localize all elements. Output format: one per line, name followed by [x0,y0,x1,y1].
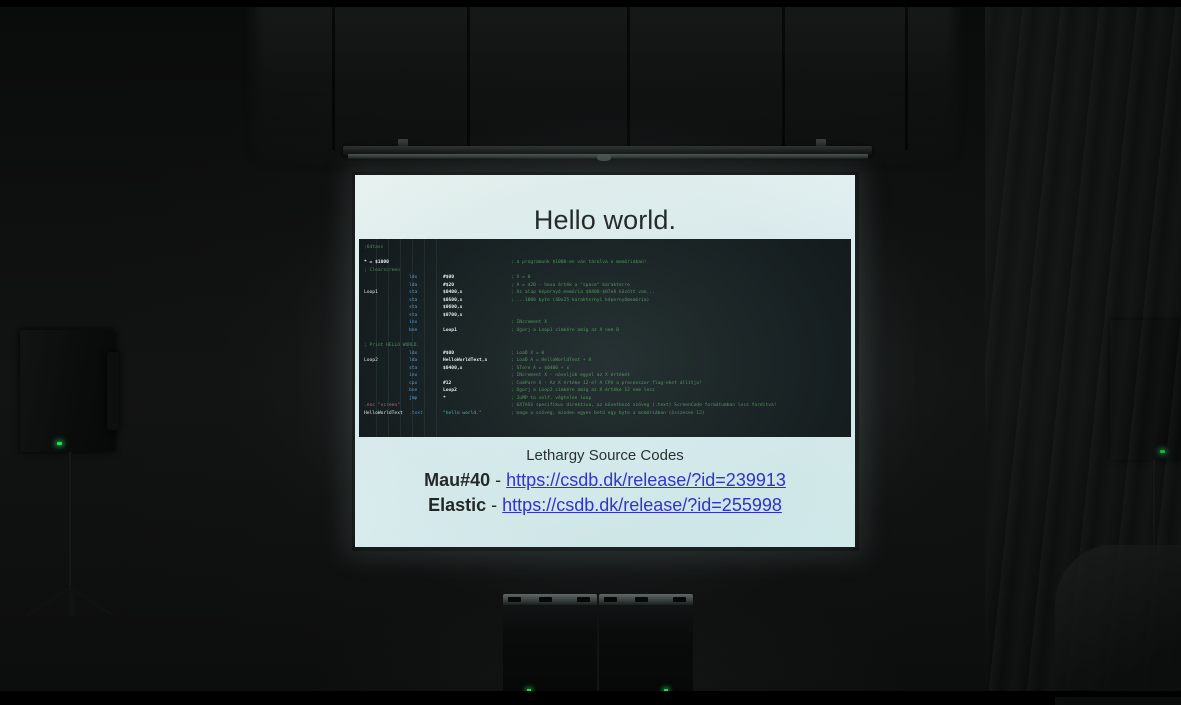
code-mnemonic: .text [409,410,423,418]
code-line: inx; INcrement X - növeljük egyel az X é… [359,372,851,380]
slide-footer: Lethargy Source Codes Mau#40 - https://c… [355,447,855,520]
source-link-list: Mau#40 - https://csdb.dk/release/?id=239… [355,470,855,516]
code-line: cpx#12; ComPare X - Az X értéke 12-e? A … [359,380,851,388]
release-url-link[interactable]: https://csdb.dk/release/?id=239913 [506,470,786,490]
code-block: ;64tass* = $1000; a programunk $1000-en … [359,239,851,437]
ceiling-seam [467,0,470,150]
code-line: ;64tass [359,244,851,252]
ceiling-seam [627,0,630,150]
code-line: sta$0400,x; STore A = $0400 + x [359,365,851,373]
projection-screen: Hello world. ;64tass* = $1000; a program… [352,172,859,551]
release-name: Elastic [428,495,486,515]
code-operand: #$00 [443,350,454,358]
speaker-cabinet [20,330,115,452]
code-comment: ; ComPare X - Az X értéke 12-e? A CPX a … [511,380,702,388]
code-line: sta$0600,x [359,304,851,312]
code-line: .enc "screen"; 64TASS specifikus direktí… [359,402,851,410]
handle-recess [539,597,552,602]
code-operand: #$00 [443,274,454,282]
ceiling-glow [255,0,955,168]
code-label: HelloWorldText [364,410,403,418]
code-mnemonic: ldx [409,350,417,358]
code-line: * = $1000; a programunk $1000-en van tár… [359,259,851,267]
code-line: Loop2ldaHelloWorldText,x; LoaD A = Hello… [359,357,851,365]
code-mnemonic: lda [409,282,417,290]
code-operand: #$20 [443,282,454,290]
stand-leg [69,586,114,617]
handle-recess [673,597,686,602]
code-mnemonic: sta [409,297,417,305]
ceiling-seam [332,0,335,150]
code-label: Loop1 [364,289,378,297]
code-comment: ; maga a szöveg, minden egyes betű egy b… [511,410,705,418]
code-mnemonic: bne [409,387,417,395]
code-line: ldx#$00; X = 0 [359,274,851,282]
code-comment: ; LoaD A = HelloWorldText + X [511,357,591,365]
handle-recess [577,597,590,602]
speaker-side-panel [107,352,119,430]
code-operand: $0500,x [443,297,462,305]
letterbox-bottom [0,691,1181,697]
code-operand: HelloWorldText,x [443,357,487,365]
code-label: ;64tass [364,244,383,252]
code-operand: "hello world." [443,410,482,418]
code-mnemonic: lda [409,357,417,365]
code-label: ; Print HELLO WORLD. [364,342,419,350]
subwoofer-left [503,594,597,697]
code-line [359,335,851,343]
stand-leg [69,586,75,616]
code-line: ; Print HELLO WORLD. [359,342,851,350]
code-mnemonic: inx [409,319,417,327]
code-comment: ; a programunk $1000-en van tárolva a me… [511,259,647,267]
subwoofer-pair [503,594,693,697]
page-title: Hello world. [355,205,855,236]
code-label: ; Clearscreen [364,267,400,275]
handle-recess [635,597,648,602]
code-mnemonic: ldx [409,274,417,282]
screen-roller-knob [597,154,611,161]
code-line: jmp*; JuMP to self, végtelen loop [359,395,851,403]
source-codes-heading: Lethargy Source Codes [355,447,855,464]
code-operand: * [443,395,446,403]
code-mnemonic: inx [409,372,417,380]
code-comment: ; Ugorj a Loop1 címkére amíg az X nem 0 [511,327,619,335]
code-operand: $0400,x [443,365,462,373]
code-comment: ; Az alap képernyő memória $0400-$07e8 k… [511,289,655,297]
speaker-stand-pole [68,452,72,587]
code-operand: $0700,x [443,312,462,320]
code-line: Loop1sta$0400,x; Az alap képernyő memóri… [359,289,851,297]
code-mnemonic: sta [409,365,417,373]
code-mnemonic: jmp [409,395,417,403]
stand-leg [26,586,71,617]
code-operand: $0400,x [443,289,462,297]
code-label: Loop2 [364,357,378,365]
letterbox-top [0,0,1181,7]
code-line: bneLoop2; Ugorj a Loop2 címkére amíg az … [359,387,851,395]
code-operand: $0600,x [443,304,462,312]
code-mnemonic: sta [409,304,417,312]
separator: - [486,495,502,515]
curtain-fold [1055,545,1181,705]
separator: - [490,470,506,490]
code-label: .enc "screen" [364,402,400,410]
code-line: HelloWorldText.text"hello world."; maga … [359,410,851,418]
code-comment: ; A = $20 - hexa érték a "space" karakte… [511,282,630,290]
code-comment: ; LoaD X = 0 [511,350,544,358]
ceiling-seam [782,0,785,150]
code-line: sta$0500,x; ...1000 byte (40x25 karakter… [359,297,851,305]
code-mnemonic: sta [409,289,417,297]
code-line [359,252,851,260]
code-comment: ; 64TASS specifikus direktíva, az követk… [511,402,777,410]
code-operand: #12 [443,380,451,388]
code-comment: ; ...1000 byte (40x25 karakternyi képern… [511,297,649,305]
code-line: bneLoop1; Ugorj a Loop1 címkére amíg az … [359,327,851,335]
handle-recess [604,597,617,602]
code-operand: Loop2 [443,387,457,395]
code-comment: ; X = 0 [511,274,530,282]
ceiling-seam [905,0,908,150]
code-comment: ; JuMP to self, végtelen loop [511,395,591,403]
code-comment: ; INcrement X [511,319,547,327]
source-link-row: Elastic - https://csdb.dk/release/?id=25… [355,495,855,516]
code-mnemonic: sta [409,312,417,320]
code-mnemonic: cpx [409,380,417,388]
code-comment: ; STore A = $0400 + x [511,365,569,373]
code-operand: Loop1 [443,327,457,335]
release-url-link[interactable]: https://csdb.dk/release/?id=255998 [502,495,782,515]
code-comment: ; INcrement X - növeljük egyel az X érté… [511,372,630,380]
dark-room-scene: Hello world. ;64tass* = $1000; a program… [0,0,1181,697]
release-name: Mau#40 [424,470,490,490]
subwoofer-right [599,594,693,697]
code-line: ldx#$00; LoaD X = 0 [359,350,851,358]
code-line: ; Clearscreen [359,267,851,275]
code-line: inx; INcrement X [359,319,851,327]
source-link-row: Mau#40 - https://csdb.dk/release/?id=239… [355,470,855,491]
code-mnemonic: bne [409,327,417,335]
code-label: * = $1000 [364,259,389,267]
handle-recess [508,597,521,602]
code-line: lda#$20; A = $20 - hexa érték a "space" … [359,282,851,290]
code-line: sta$0700,x [359,312,851,320]
code-comment: ; Ugorj a Loop2 címkére amíg az X értéke… [511,387,655,395]
power-led-icon [57,442,62,445]
slide-surface: Hello world. ;64tass* = $1000; a program… [355,175,855,547]
